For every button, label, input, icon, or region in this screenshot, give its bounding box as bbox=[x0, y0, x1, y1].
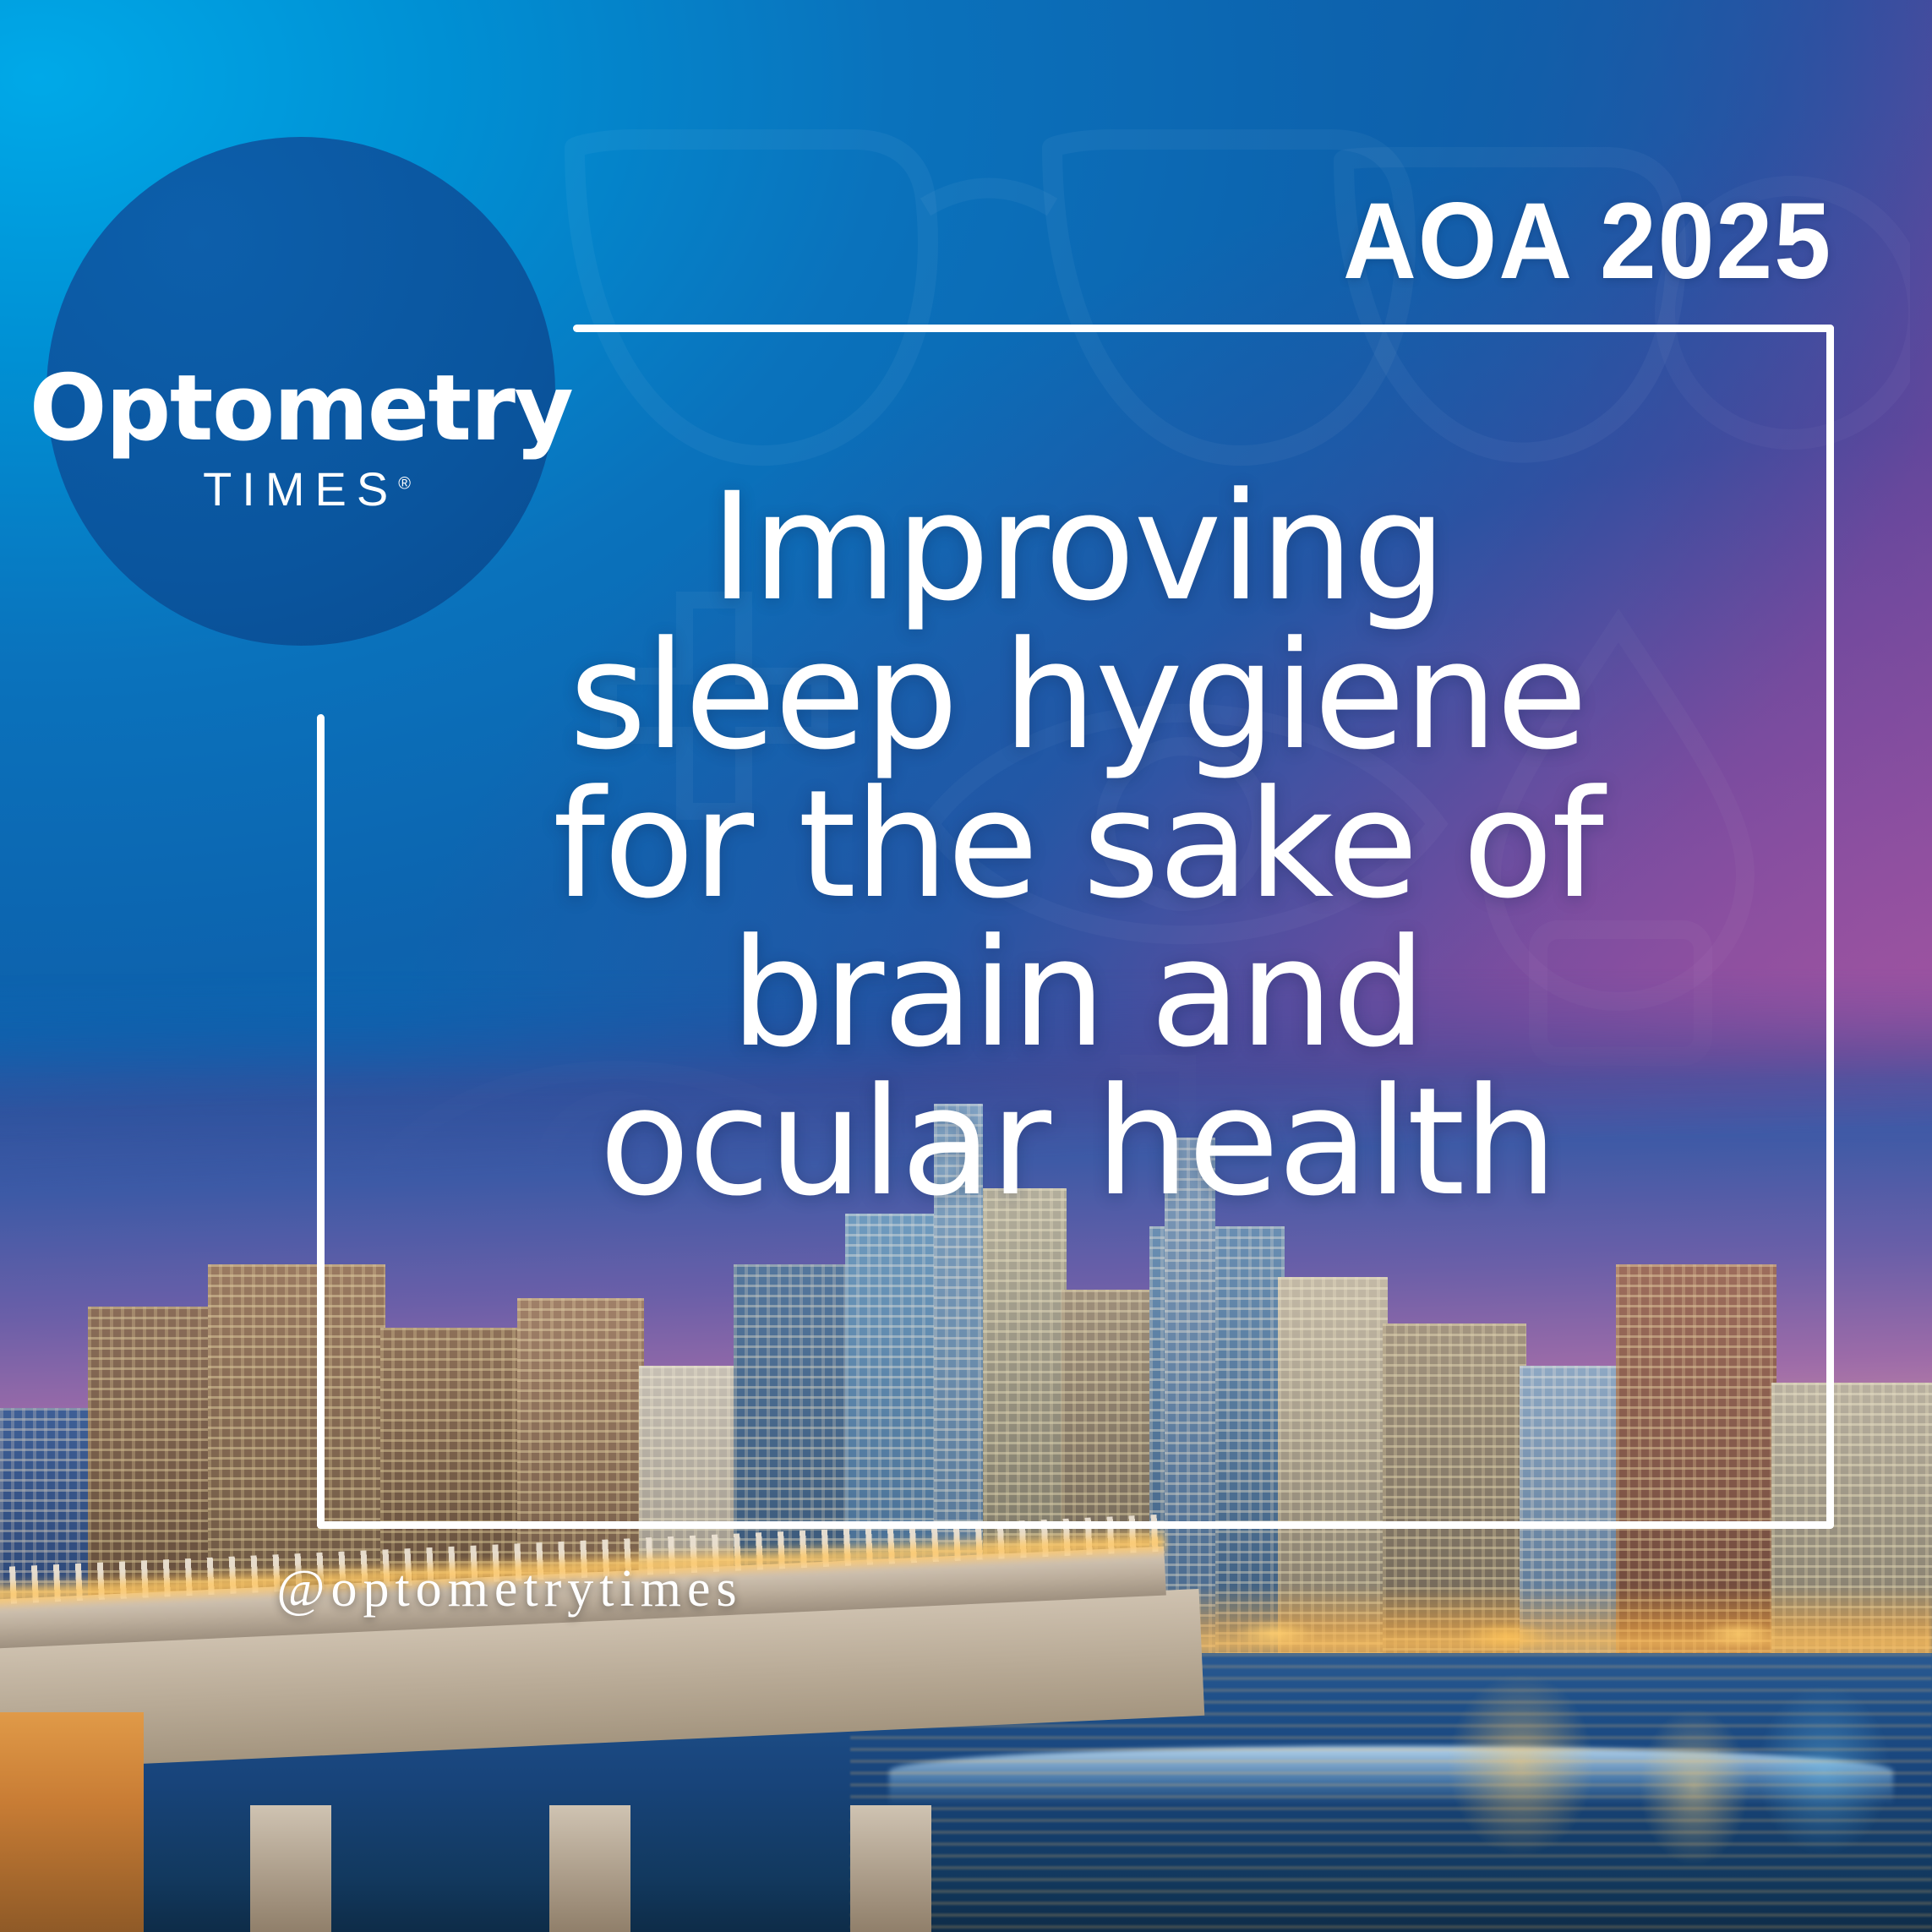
social-handle: @optometrytimes bbox=[0, 1559, 1476, 1619]
headline-line-3: for the sake of bbox=[313, 771, 1842, 920]
headline-line-5: ocular health bbox=[313, 1068, 1842, 1217]
frame-rule-top bbox=[573, 325, 1834, 332]
headline-line-1: Improving bbox=[313, 473, 1842, 622]
page-title: Improving sleep hygiene for the sake of … bbox=[313, 473, 1842, 1217]
event-kicker: AOA 2025 bbox=[1343, 188, 1832, 296]
logo-wordmark: Optometry bbox=[30, 366, 573, 453]
social-card: Optometry TIMES® AOA 2025 Improving slee… bbox=[0, 0, 1932, 1932]
stone-arch-bridge bbox=[0, 1569, 1166, 1932]
frame-rule-bottom bbox=[317, 1521, 1834, 1529]
headline-line-4: brain and bbox=[313, 920, 1842, 1068]
headline-line-2: sleep hygiene bbox=[313, 622, 1842, 771]
